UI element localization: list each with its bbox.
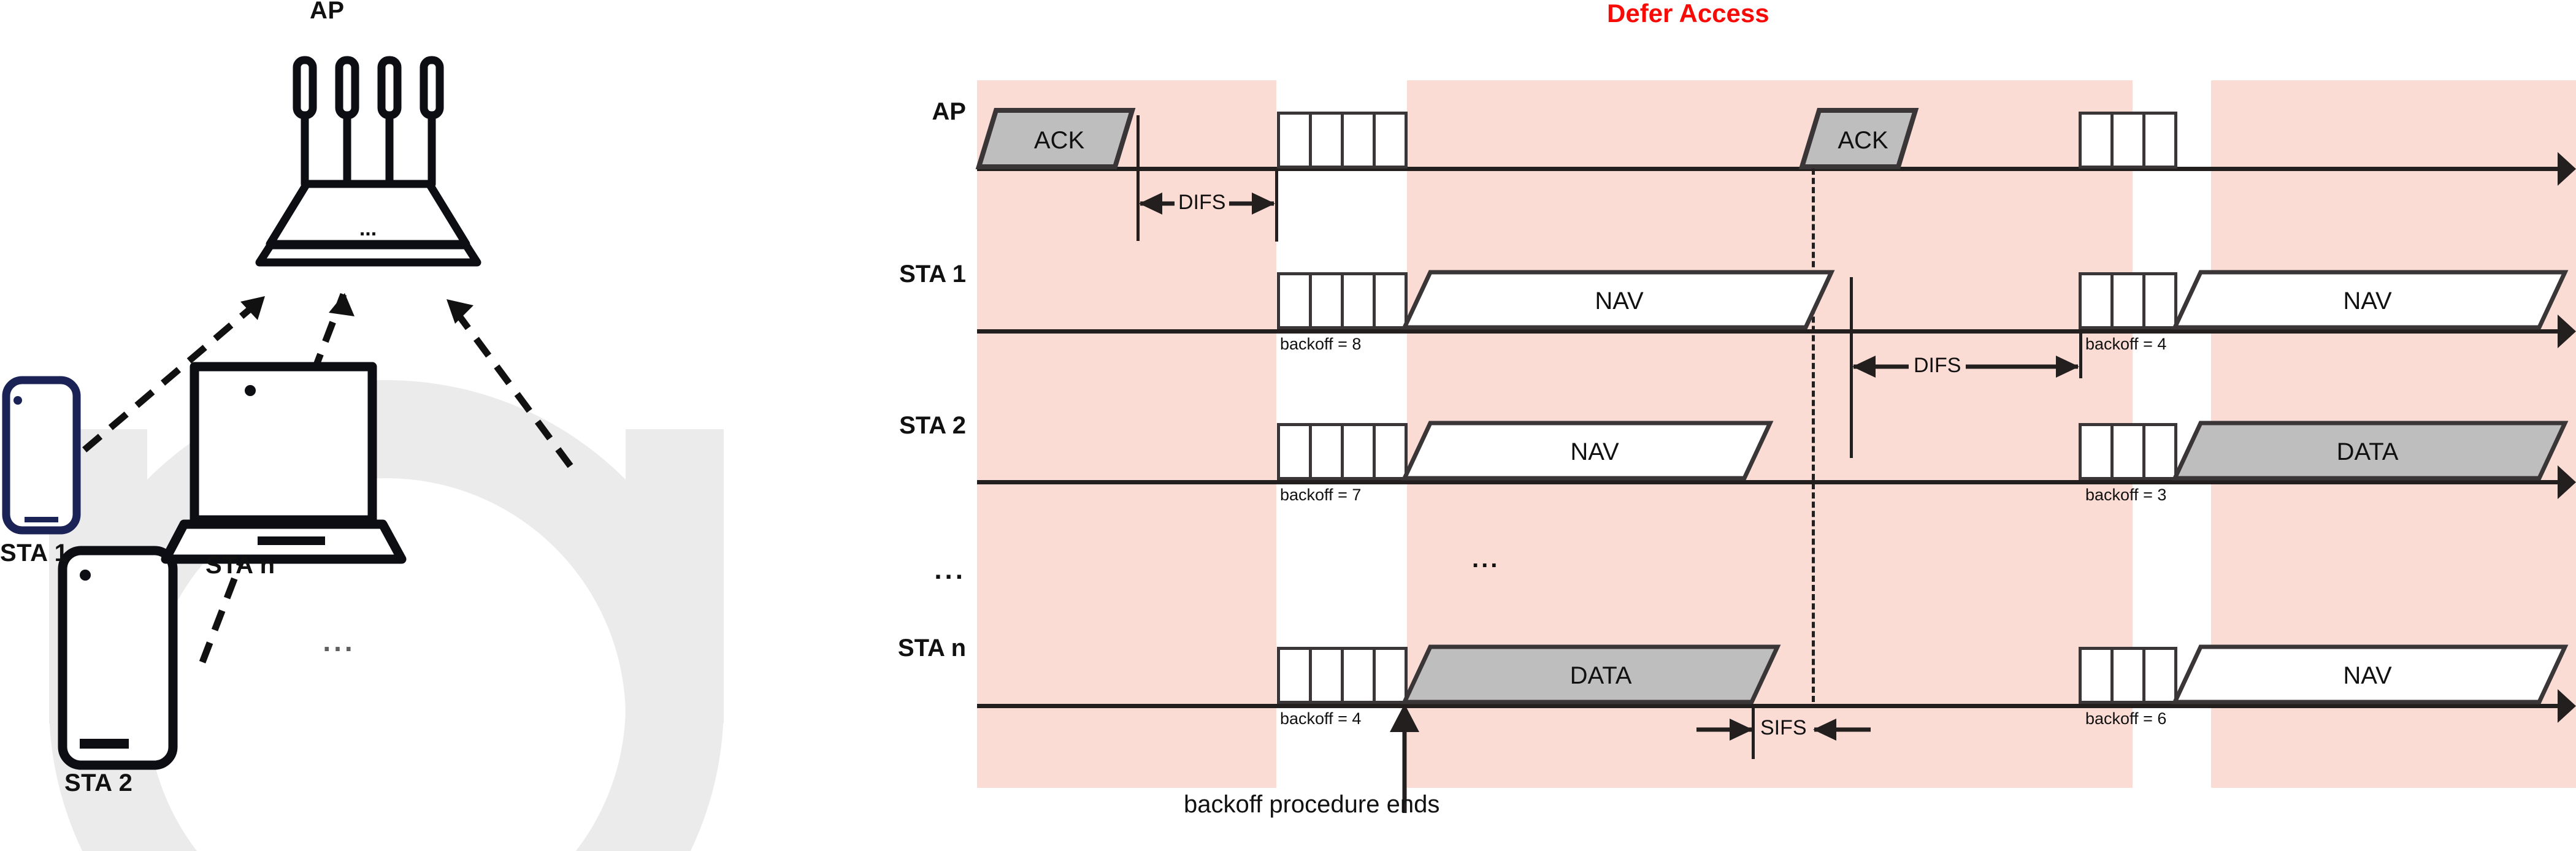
stan-backoff-2: backoff = 6: [2085, 709, 2166, 728]
ap-slots-phase2[interactable]: [1277, 112, 1408, 169]
ap-slots-phase3[interactable]: [2079, 112, 2177, 169]
sta1-nav-1-label: NAV: [1509, 277, 1730, 325]
difs1-start-tick: [1137, 115, 1140, 241]
middle-ellipsis: ...: [1472, 546, 1500, 573]
sta2-slots-phase2[interactable]: [2079, 423, 2177, 480]
sta1-nav-2-text: NAV: [2343, 288, 2391, 315]
network-topology-diagram: ... ... AP ST: [0, 0, 834, 851]
stan-backoff-1: backoff = 4: [1280, 709, 1361, 728]
sifs-right-arrow: [1812, 717, 1873, 742]
ap-device-dots: ...: [359, 217, 377, 240]
topology-canvas: ... ...: [0, 0, 834, 851]
stan-nav-text: NAV: [2343, 662, 2391, 690]
sta1-slots-phase1[interactable]: [1277, 272, 1408, 329]
sifs-reference-dashed-line: [1812, 169, 1815, 702]
sifs-left-arrow: [1693, 717, 1754, 742]
sta2-backoff-1: backoff = 7: [1280, 486, 1361, 505]
sta2-slots-phase1[interactable]: [1277, 423, 1408, 480]
sta2-data-label: DATA: [2263, 428, 2472, 476]
stan-slots-phase1[interactable]: [1277, 647, 1408, 704]
sta1-label: STA 1: [0, 540, 68, 567]
stan-laptop-icon: [166, 367, 402, 559]
ack-frame-2-label: ACK: [1815, 116, 1911, 164]
sifs-label: SIFS: [1760, 716, 1807, 740]
stan-slots-phase2[interactable]: [2079, 647, 2177, 704]
sta1-nav-2-label: NAV: [2263, 277, 2472, 325]
sta1-slots-phase2[interactable]: [2079, 272, 2177, 329]
sta2-nav-1-text: NAV: [1570, 438, 1619, 466]
difs1-label: DIFS: [1175, 191, 1229, 215]
backoff-ends-annotation: backoff procedure ends: [1184, 791, 1439, 819]
sta1-nav-1-text: NAV: [1595, 288, 1643, 315]
topology-ellipsis: ...: [323, 625, 355, 657]
ack-frame-1-text: ACK: [1034, 127, 1084, 155]
stan-data-text: DATA: [1570, 662, 1632, 690]
link-arrowheads: [240, 293, 473, 324]
stan-nav-label: NAV: [2263, 652, 2472, 700]
sta1-backoff-2: backoff = 4: [2085, 335, 2166, 354]
sta2-data-text: DATA: [2337, 438, 2399, 466]
difs2-label: DIFS: [1909, 354, 1966, 378]
sta2-backoff-2: backoff = 3: [2085, 486, 2166, 505]
sta1-backoff-1: backoff = 8: [1280, 335, 1361, 354]
ack-frame-1-label: ACK: [995, 116, 1124, 164]
stan-label: STA n: [205, 552, 275, 579]
ap-label: AP: [310, 0, 345, 25]
timing-diagram: Defer Access AP STA 1 STA 2 ... STA n AC…: [834, 0, 2576, 851]
ack-frame-2-text: ACK: [1838, 127, 1888, 155]
sta2-phone-icon: [63, 551, 173, 765]
stan-data-label: DATA: [1500, 652, 1702, 700]
sta2-nav-1-label: NAV: [1497, 428, 1693, 476]
sta2-label: STA 2: [64, 769, 132, 797]
